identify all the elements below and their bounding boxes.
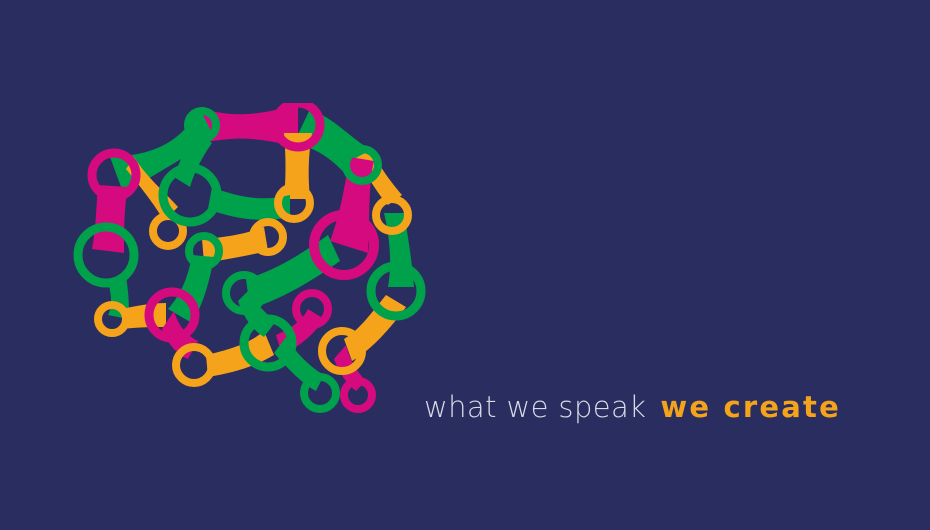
link-magenta-right — [330, 157, 374, 253]
brain-network-logo — [62, 103, 434, 425]
node-orange-bottom-left — [176, 347, 212, 383]
slide-canvas: what we speak we create — [0, 0, 930, 530]
logo-nodes — [78, 103, 421, 409]
tagline: what we speak we create — [424, 390, 841, 428]
tagline-accent-text: we create — [660, 390, 841, 424]
brain-logo-svg — [62, 103, 434, 425]
tagline-light-text: what we speak — [424, 390, 646, 424]
